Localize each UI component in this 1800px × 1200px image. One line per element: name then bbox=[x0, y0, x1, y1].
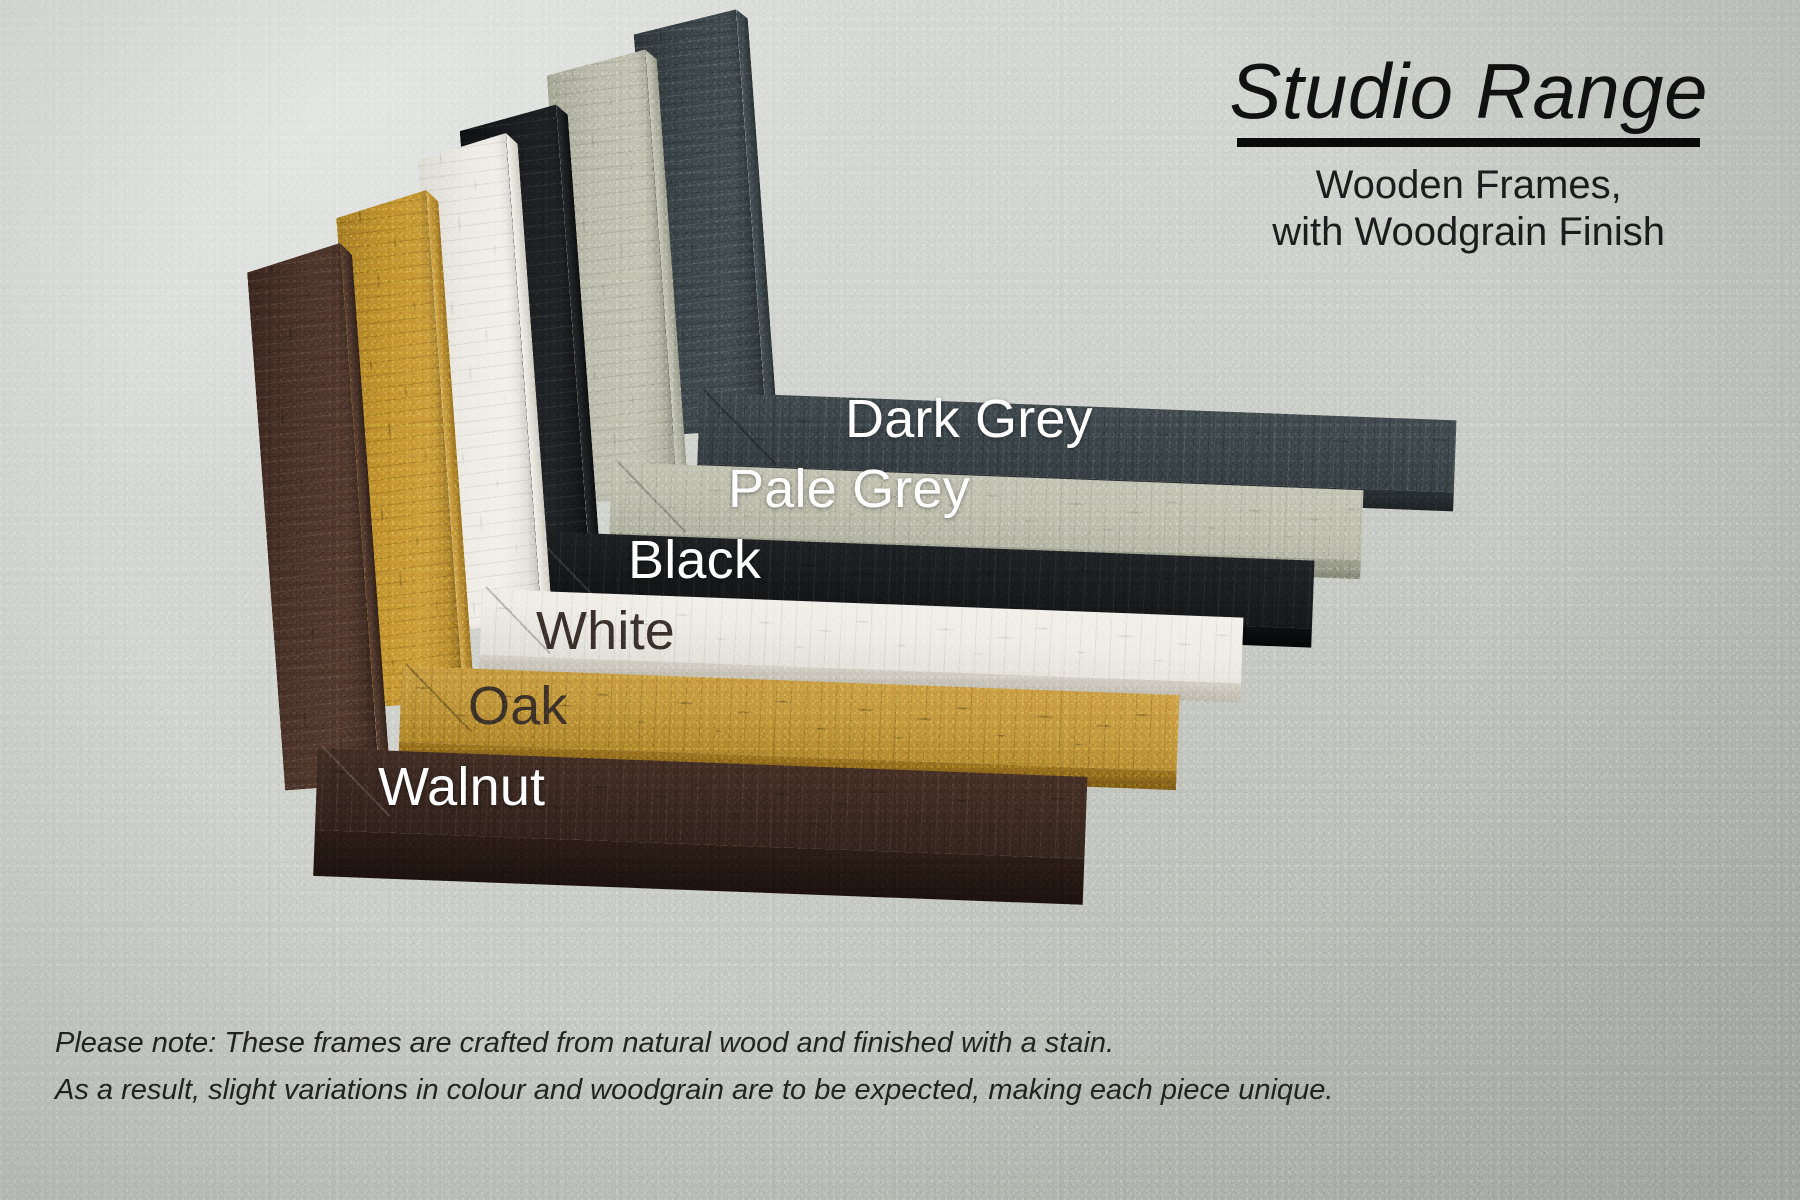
frame-label-black: Black bbox=[628, 533, 761, 587]
frame-label-pale-grey: Pale Grey bbox=[728, 462, 970, 516]
frame-label-oak: Oak bbox=[468, 679, 568, 733]
subtitle-line-1: Wooden Frames, bbox=[1229, 162, 1708, 209]
footer-note: Please note: These frames are crafted fr… bbox=[55, 1020, 1333, 1114]
footer-line-2: As a result, slight variations in colour… bbox=[55, 1067, 1333, 1114]
header-block: Studio Range Wooden Frames, with Woodgra… bbox=[1229, 52, 1708, 256]
title-underline-rule bbox=[1237, 138, 1700, 147]
frame-label-white: White bbox=[536, 604, 675, 658]
frame-label-walnut: Walnut bbox=[378, 760, 545, 814]
subtitle-line-2: with Woodgrain Finish bbox=[1229, 209, 1708, 256]
frame-label-dark-grey: Dark Grey bbox=[845, 392, 1093, 446]
page-subtitle: Wooden Frames, with Woodgrain Finish bbox=[1229, 162, 1708, 256]
page-title: Studio Range bbox=[1229, 52, 1708, 132]
footer-line-1: Please note: These frames are crafted fr… bbox=[55, 1020, 1333, 1067]
